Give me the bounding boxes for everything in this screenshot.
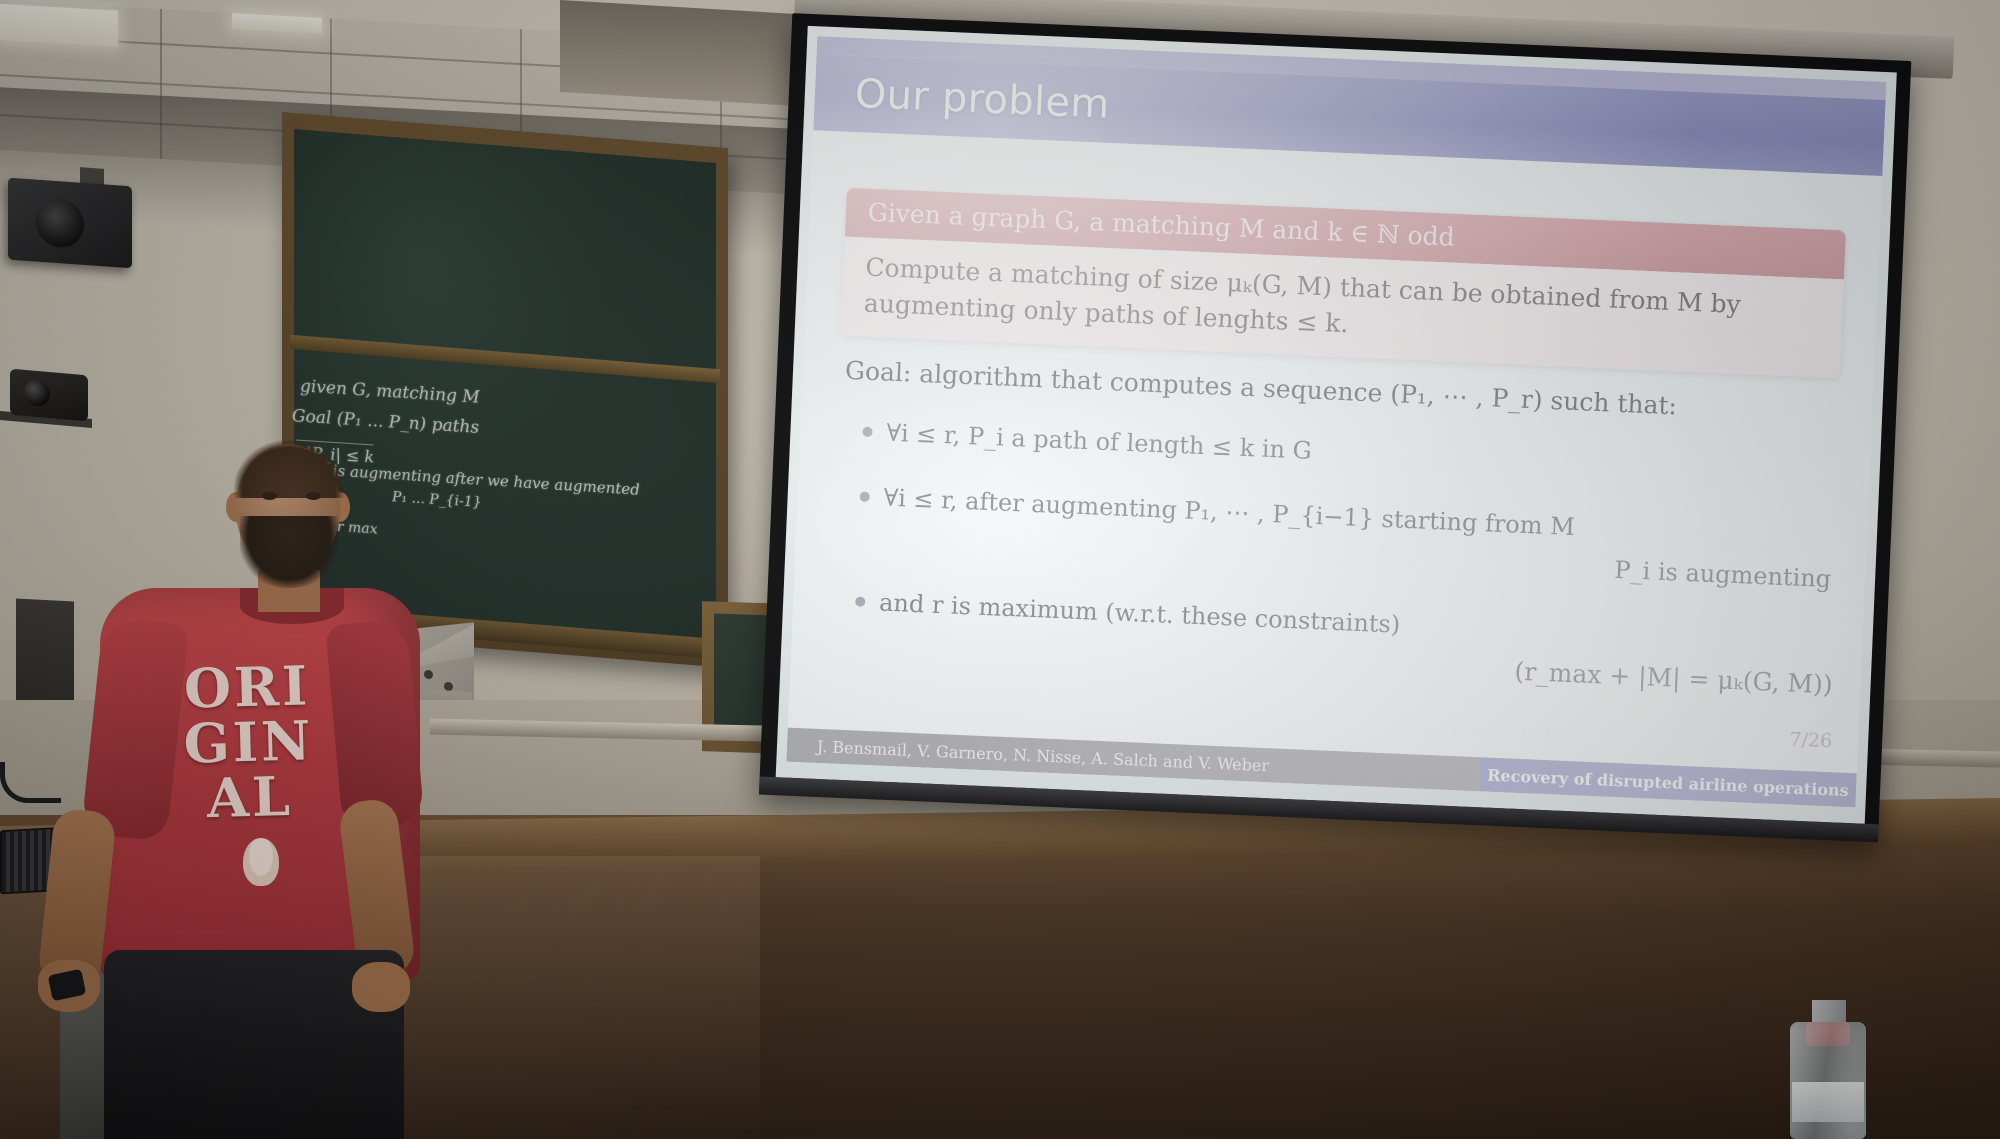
eye-left <box>262 492 277 500</box>
list-item: ∀i ≤ r, P_i a path of length ≤ k in G <box>862 415 1853 492</box>
hand-right <box>352 962 410 1012</box>
bullet-text: ∀i ≤ r, P_i a path of length ≤ k in G <box>886 416 1853 492</box>
shirt-print-line-2: GIN <box>148 712 349 772</box>
bullet-dot-icon <box>860 491 870 501</box>
presenter-beard <box>240 516 338 588</box>
penguin-icon <box>243 838 279 886</box>
bullet-continuation: P_i is augmenting <box>881 521 1848 597</box>
bullet-text-group: ∀i ≤ r, after augmenting P₁, ⋯ , P_{i−1}… <box>881 480 1849 597</box>
presenter-hair <box>234 440 344 498</box>
lecture-hall-photo: given G, matching M Goal (P₁ ... P_n) pa… <box>0 0 2000 1139</box>
theorem-box: Given a graph G, a matching M and k ∈ ℕ … <box>841 188 1846 379</box>
list-item: ∀i ≤ r, after augmenting P₁, ⋯ , P_{i−1}… <box>857 479 1849 597</box>
projection-screen-assembly: Our problem Given a graph G, a matching … <box>870 0 2000 857</box>
eye-right <box>306 492 321 500</box>
slide-title: Our problem <box>814 69 1111 128</box>
beamer-nav-dots: · · · · · · <box>1428 719 1558 743</box>
shirt-print: ORI GIN AL <box>146 657 353 942</box>
slide-page-number: 7/26 <box>1789 728 1833 752</box>
shirt-print-line-3: AL <box>149 768 350 828</box>
bullet-dot-icon <box>862 427 872 437</box>
shirt-print-line-1: ORI <box>146 657 347 717</box>
presentation-slide: Our problem Given a graph G, a matching … <box>786 36 1886 807</box>
bullet-dot-icon <box>855 597 865 607</box>
